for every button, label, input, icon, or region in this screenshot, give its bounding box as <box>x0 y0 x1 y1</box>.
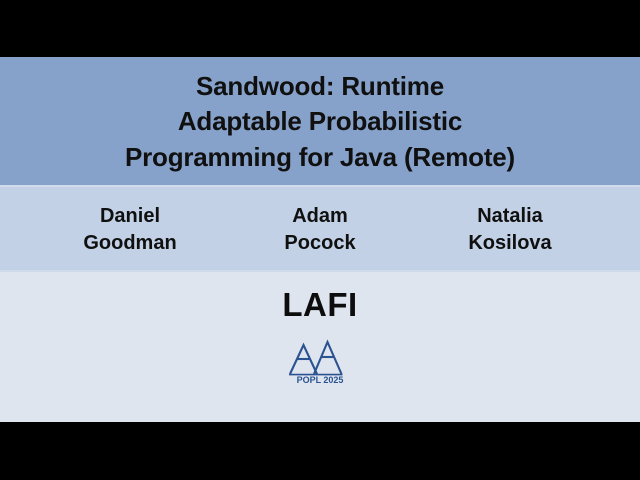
popl-logo-label: POPL 2025 <box>297 375 344 385</box>
author-name: Adam Pocock <box>230 203 410 256</box>
venue-name: LAFI <box>282 272 357 321</box>
author-name: Natalia Kosilova <box>410 203 610 256</box>
talk-title: Sandwood: Runtime Adaptable Probabilisti… <box>85 69 555 175</box>
presentation-slide: Sandwood: Runtime Adaptable Probabilisti… <box>0 0 640 480</box>
authors-row: Daniel Goodman Adam Pocock Natalia Kosil… <box>0 203 640 256</box>
author-name: Daniel Goodman <box>30 203 230 256</box>
letterbox-bottom-bar <box>0 422 640 480</box>
venue-band: LAFI POPL 2025 <box>0 272 640 422</box>
letterbox-top-bar <box>0 0 640 57</box>
title-band: Sandwood: Runtime Adaptable Probabilisti… <box>0 57 640 187</box>
popl-mountain-lambda-logo-icon: POPL 2025 <box>283 337 357 385</box>
authors-band: Daniel Goodman Adam Pocock Natalia Kosil… <box>0 187 640 272</box>
